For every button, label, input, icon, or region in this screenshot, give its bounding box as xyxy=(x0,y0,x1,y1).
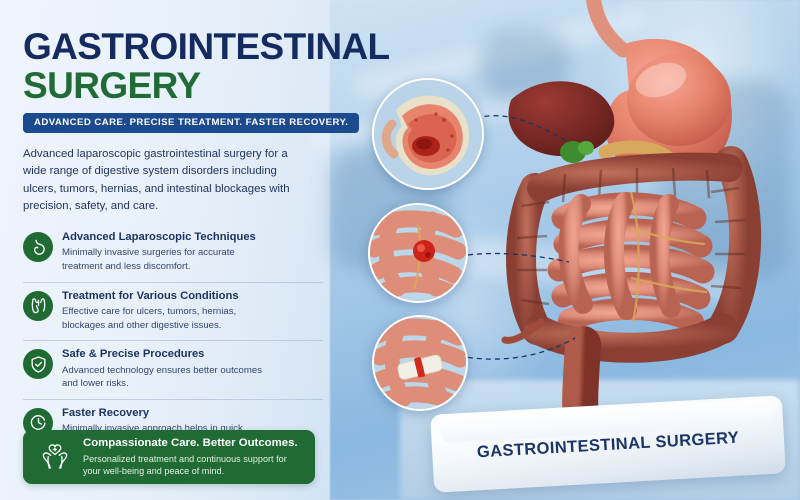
banner-body: Personalized treatment and continuous su… xyxy=(83,453,303,478)
shield-check-icon xyxy=(23,349,53,379)
poster-root: GASTROINTESTINAL SURGERY GASTROINTESTINA… xyxy=(0,0,800,500)
banner-heading: Compassionate Care. Better Outcomes. xyxy=(83,436,303,450)
feature-item-laparoscopic: Advanced Laparoscopic Techniques Minimal… xyxy=(23,228,323,278)
feature-heading: Faster Recovery xyxy=(62,407,277,420)
feature-item-conditions: Treatment for Various Conditions Effecti… xyxy=(23,282,323,337)
callout-connector-2 xyxy=(455,240,575,280)
feature-heading: Treatment for Various Conditions xyxy=(62,290,277,303)
callout-stomach-ulcer xyxy=(372,78,484,190)
intro-paragraph: Advanced laparoscopic gastrointestinal s… xyxy=(23,146,299,215)
callout-intestinal-tumor xyxy=(368,203,468,303)
stomach-icon xyxy=(23,232,53,262)
callout-connector-3 xyxy=(455,330,580,380)
feature-body: Advanced technology ensures better outco… xyxy=(62,364,277,391)
tagline-badge: ADVANCED CARE. PRECISE TREATMENT. FASTER… xyxy=(23,113,359,133)
intestine-icon xyxy=(23,291,53,321)
compassionate-care-banner: Compassionate Care. Better Outcomes. Per… xyxy=(23,430,315,484)
page-title-line1: GASTROINTESTINAL xyxy=(23,28,390,65)
hands-heart-icon xyxy=(35,437,75,477)
feature-body: Effective care for ulcers, tumors, herni… xyxy=(62,305,277,332)
content-column: GASTROINTESTINAL SURGERY ADVANCED CARE. … xyxy=(0,0,360,500)
feature-item-safe-procedures: Safe & Precise Procedures Advanced techn… xyxy=(23,340,323,395)
feature-list: Advanced Laparoscopic Techniques Minimal… xyxy=(23,228,323,454)
feature-body: Minimally invasive surgeries for accurat… xyxy=(62,246,277,273)
feature-heading: Safe & Precise Procedures xyxy=(62,348,277,361)
callout-intestinal-blockage xyxy=(372,315,468,411)
page-title-line2: SURGERY xyxy=(23,67,200,104)
feature-heading: Advanced Laparoscopic Techniques xyxy=(62,231,277,244)
